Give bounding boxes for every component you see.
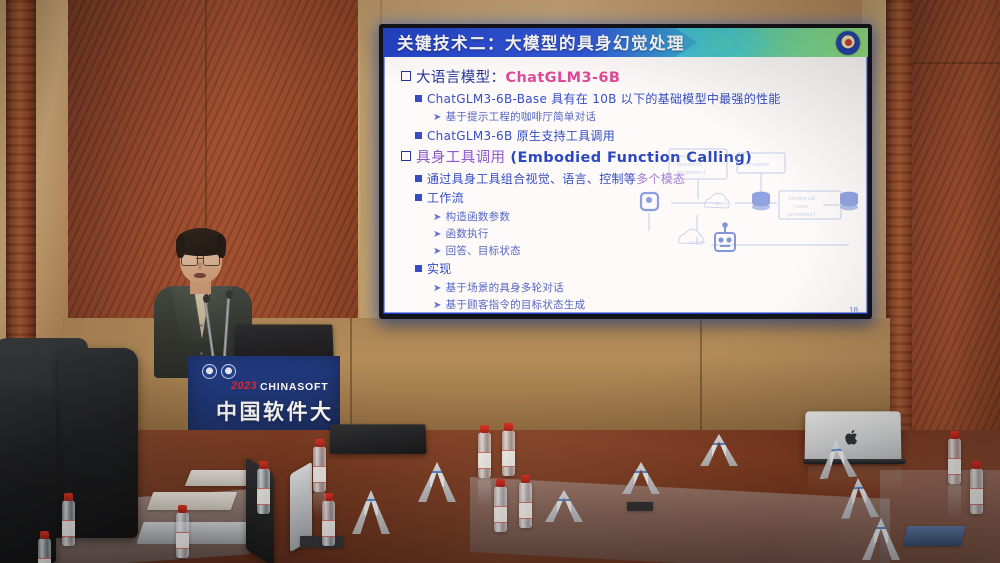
slide-body: 大语言模型：ChatGLM3-6B ChatGLM3-6B-Base 具有在 1… (383, 57, 868, 314)
podium-year: 2023 (231, 380, 257, 392)
database-icon (840, 192, 858, 211)
conference-room-photo: 关键技术二：大模型的具身幻觉处理 大语言模型：ChatGLM3-6B ChatG… (0, 0, 1000, 563)
water-bottle[interactable] (494, 486, 507, 532)
laptop-base-front-left[interactable] (136, 522, 253, 544)
bottle-reflection (478, 478, 491, 508)
bottle-label (494, 506, 507, 523)
slide-line-11-text: 实现 (427, 262, 452, 276)
bottle-cap (40, 531, 49, 539)
water-bottle[interactable] (948, 438, 961, 484)
slide-line-12-text: 基于场景的具身多轮对话 (446, 282, 564, 294)
bottle-cap (480, 425, 489, 433)
bottle-label (948, 458, 961, 475)
bottle-label (38, 558, 51, 563)
slide-line-2-text: ChatGLM3-6B-Base 具有在 10B 以下的基础模型中最强的性能 (427, 92, 781, 106)
square-outline-bullet-icon (401, 71, 411, 81)
bottle-label (313, 466, 326, 483)
water-bottle[interactable] (502, 430, 515, 476)
wall-wood-panel-right (912, 0, 1000, 430)
slide-line-9-text: 函数执行 (446, 228, 489, 240)
water-bottle[interactable] (257, 468, 270, 514)
svg-text:query: query (715, 201, 728, 207)
slide-line-8-text: 构造函数参数 (446, 211, 511, 223)
water-bottle[interactable] (478, 432, 491, 478)
water-bottle[interactable] (176, 512, 189, 558)
podium-laptop[interactable] (234, 324, 333, 360)
wall-column-left (6, 0, 36, 342)
square-filled-bullet-icon (415, 175, 422, 182)
speaker-button-1 (200, 324, 203, 327)
wall-panel-left-inner (36, 0, 70, 348)
slide-line-1: 大语言模型：ChatGLM3-6B (401, 66, 868, 87)
slide-line-7-text: 工作流 (427, 191, 464, 205)
speaker-hair-side-left (176, 234, 185, 258)
arrow-bullet-icon: ➤ (433, 283, 442, 294)
function-calling-flow-diagram: { name, description, parameters } tool r… (627, 145, 862, 265)
speaker-nose (198, 262, 202, 270)
bottle-reflection (948, 484, 961, 520)
bottle-cap (315, 439, 324, 447)
speaker-mouth (194, 273, 206, 278)
bottle-reflection (313, 492, 326, 518)
bottle-cap (521, 475, 530, 483)
bottle-label (322, 520, 335, 537)
organizer-seal-icon-2 (221, 364, 236, 379)
slide-line-13-text: 基于顾客指令的目标状态生成 (446, 299, 586, 311)
slide-line-3: ➤基于提示工程的咖啡厅简单对话 (433, 109, 868, 124)
slide-title-bar: 关键技术二：大模型的具身幻觉处理 (383, 28, 868, 57)
wall-seam-4 (350, 318, 352, 432)
arrow-bullet-icon: ➤ (433, 300, 442, 311)
tablet-device[interactable] (903, 526, 966, 546)
slide-title: 关键技术二：大模型的具身幻觉处理 (397, 30, 685, 54)
macbook-laptop[interactable] (805, 411, 902, 463)
slide-page-number: 18 (849, 306, 858, 314)
bottle-cap (504, 423, 513, 431)
apple-logo-icon (845, 429, 860, 446)
bottle-label (257, 488, 270, 505)
svg-text:tool register: tool register (743, 162, 769, 168)
microphone-head-icon (203, 294, 210, 303)
bottle-cap (259, 461, 268, 469)
square-filled-bullet-icon (415, 132, 422, 139)
water-bottle[interactable] (519, 482, 532, 528)
robot-icon (715, 223, 735, 251)
eyeglass-bridge (196, 258, 203, 259)
macbook-base (803, 459, 906, 464)
slide-line-4-text: ChatGLM3-6B 原生支持工具调用 (427, 129, 615, 143)
svg-text:{ name,: { name, (793, 204, 810, 210)
speaker-button-2 (200, 352, 203, 355)
microphone-head-icon-2 (226, 290, 233, 299)
organizer-seal-icon-1 (202, 364, 217, 379)
presentation-display[interactable]: 关键技术二：大模型的具身幻觉处理 大语言模型：ChatGLM3-6B ChatG… (379, 24, 872, 319)
laptop-screen-left[interactable] (330, 424, 427, 454)
bottle-cap (972, 461, 981, 469)
small-device (627, 502, 653, 511)
slide-line-3-text: 基于提示工程的咖啡厅简单对话 (446, 111, 597, 123)
slide-surface: 关键技术二：大模型的具身幻觉处理 大语言模型：ChatGLM3-6B ChatG… (383, 28, 868, 314)
water-bottle[interactable] (970, 468, 983, 514)
bottle-cap (64, 493, 73, 501)
slide-line-12: ➤基于场景的具身多轮对话 (433, 280, 868, 295)
arrow-bullet-icon: ➤ (433, 112, 442, 123)
slide-line-2: ChatGLM3-6B-Base 具有在 10B 以下的基础模型中最强的性能 (415, 90, 868, 107)
bottle-label (62, 520, 75, 537)
slide-line-1-accent: ChatGLM3-6B (505, 70, 620, 86)
water-bottle[interactable] (38, 538, 51, 563)
svg-text:parameters }: parameters } (787, 212, 816, 218)
arrow-bullet-icon: ➤ (433, 246, 442, 257)
wall-seam-3 (912, 62, 1000, 64)
bottle-label (176, 532, 189, 549)
bottle-label (519, 502, 532, 519)
arrow-bullet-icon: ➤ (433, 212, 442, 223)
square-filled-bullet-icon (415, 95, 422, 102)
svg-text:parameters }: parameters } (677, 170, 706, 176)
slide-line-1-text: 大语言模型： (416, 70, 505, 86)
wall-seam-5 (700, 318, 702, 432)
water-bottle[interactable] (62, 500, 75, 546)
database-icon (752, 192, 770, 211)
arrow-bullet-icon: ➤ (433, 229, 442, 240)
water-bottle[interactable] (313, 446, 326, 492)
documents-2 (147, 492, 238, 510)
bottle-label (970, 488, 983, 505)
bottle-cap (178, 505, 187, 513)
slide-line-4: ChatGLM3-6B 原生支持工具调用 (415, 127, 868, 144)
user-icon (641, 193, 658, 210)
svg-text:{ name,: { name, (677, 154, 694, 160)
bottle-cap (496, 479, 505, 487)
bottle-cap (950, 431, 959, 439)
bottle-label (502, 450, 515, 467)
podium-english-name: CHINASOFT (260, 381, 328, 393)
bottle-label (478, 452, 491, 469)
slide-line-10-text: 回答、目标状态 (446, 245, 521, 257)
university-emblem-icon (836, 31, 860, 55)
svg-text:description,: description, (677, 162, 703, 168)
square-outline-bullet-icon (401, 151, 411, 161)
svg-text:function call: function call (789, 196, 815, 202)
slide-line-5-text: 具身工具调用 (416, 150, 505, 166)
square-filled-bullet-icon (415, 194, 422, 201)
slide-line-6-text: 通过具身工具组合视觉、语言、控制等 (427, 172, 636, 186)
square-filled-bullet-icon (415, 265, 422, 272)
slide-line-13: ➤基于顾客指令的目标状态生成 (433, 297, 868, 312)
